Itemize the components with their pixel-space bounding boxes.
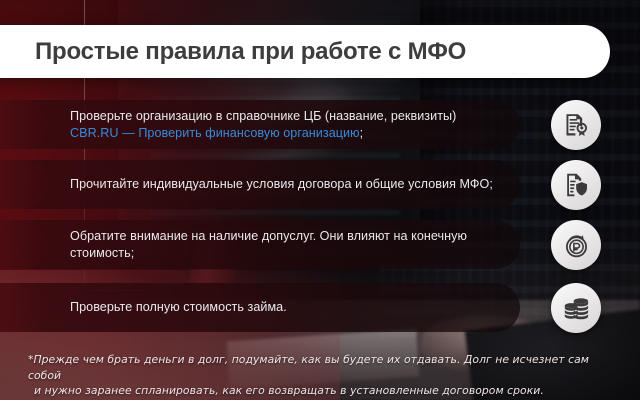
disclaimer-line-1: *Прежде чем брать деньги в долг, подумай… (28, 353, 589, 382)
list-item[interactable]: Проверьте полную стоимость займа. (0, 283, 520, 332)
list-item[interactable]: Проверьте организацию в справочнике ЦБ (… (0, 100, 520, 149)
cbr-link[interactable]: CBR.RU — Проверить финансовую организаци… (70, 126, 360, 140)
certificate-seal-icon (551, 100, 601, 150)
list-item-text-before: Проверьте организацию в справочнике ЦБ (… (70, 109, 456, 123)
list-item-text: Прочитайте индивидуальные условия догово… (70, 176, 493, 193)
list-item-text: Проверьте полную стоимость займа. (70, 299, 287, 316)
list-item-text: Проверьте организацию в справочнике ЦБ (… (70, 108, 506, 141)
rules-list: Проверьте организацию в справочнике ЦБ (… (0, 0, 640, 400)
disclaimer-text: *Прежде чем брать деньги в долг, подумай… (28, 352, 618, 399)
list-item-text-after: ; (360, 126, 364, 140)
infographic-poster: Простые правила при работе с МФО Проверь… (0, 0, 640, 400)
ruble-refresh-icon (551, 220, 601, 270)
coins-stack-icon (551, 283, 601, 333)
list-item[interactable]: Обратите внимание на наличие допуслуг. О… (0, 220, 520, 269)
list-item-text: Обратите внимание на наличие допуслуг. О… (70, 228, 506, 261)
disclaimer-line-2: и нужно заранее спланировать, как его во… (34, 383, 618, 399)
document-shield-icon (551, 160, 601, 210)
list-item[interactable]: Прочитайте индивидуальные условия догово… (0, 160, 520, 209)
